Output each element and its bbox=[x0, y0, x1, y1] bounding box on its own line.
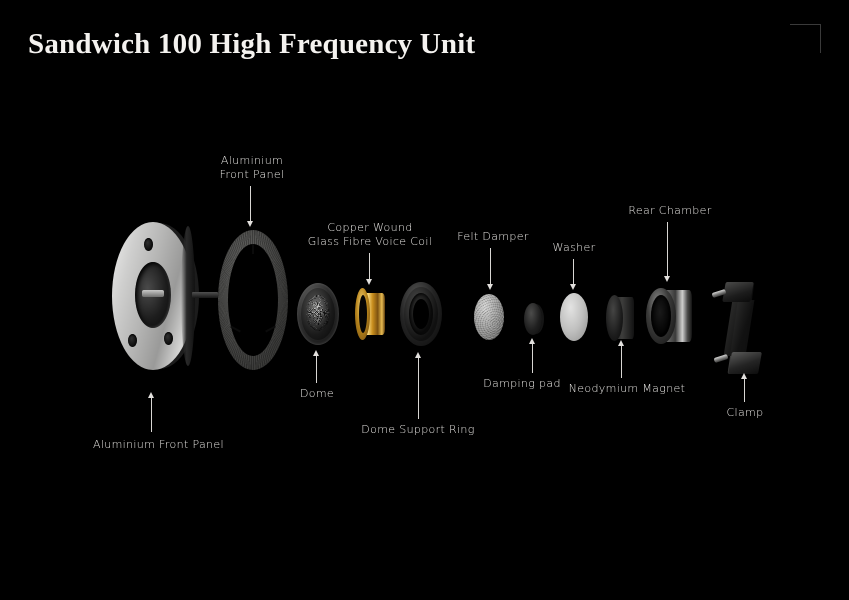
label-felt-damper: Felt Damper bbox=[457, 230, 528, 244]
leader-arrow-down bbox=[664, 276, 670, 282]
part-felt-damper bbox=[474, 294, 504, 340]
flange-bore bbox=[135, 262, 171, 328]
leader-line bbox=[667, 222, 668, 278]
diagram-canvas: Sandwich 100 High Frequency Unit bbox=[0, 0, 849, 600]
part-dome bbox=[297, 283, 339, 345]
label-washer: Washer bbox=[552, 241, 595, 255]
flange-hole bbox=[164, 332, 173, 345]
magnet-face bbox=[606, 295, 623, 341]
label-rear-chamber: Rear Chamber bbox=[628, 204, 711, 218]
corner-bracket-icon bbox=[790, 24, 821, 53]
leader-line bbox=[316, 355, 317, 383]
leader-arrow-up bbox=[741, 373, 747, 379]
label-front-panel-gasket: Aluminium Front Panel bbox=[220, 154, 285, 182]
leader-arrow-up bbox=[313, 350, 319, 356]
leader-arrow-up bbox=[148, 392, 154, 398]
clamp-top-block bbox=[722, 282, 754, 302]
clamp-bolt bbox=[714, 354, 729, 363]
page-title: Sandwich 100 High Frequency Unit bbox=[28, 28, 475, 61]
leader-arrow-up bbox=[415, 352, 421, 358]
leader-arrow-down bbox=[366, 279, 372, 285]
label-neodymium-magnet: Neodymium Magnet bbox=[569, 382, 686, 396]
part-damping-pad bbox=[524, 303, 542, 335]
leader-arrow-down bbox=[487, 284, 493, 290]
support-aperture bbox=[413, 299, 429, 329]
coil-front-face bbox=[355, 288, 370, 340]
leader-line bbox=[532, 343, 533, 373]
flange-hole bbox=[128, 334, 137, 347]
part-washer bbox=[560, 293, 588, 341]
leader-arrow-up bbox=[529, 338, 535, 344]
leader-line bbox=[250, 186, 251, 224]
leader-line bbox=[418, 357, 419, 419]
chamber-face bbox=[646, 288, 676, 344]
leader-arrow-up bbox=[618, 340, 624, 346]
clamp-bottom-block bbox=[728, 352, 762, 374]
pad-disc bbox=[524, 303, 542, 335]
part-aluminium-front-panel bbox=[112, 222, 194, 370]
leader-line bbox=[369, 253, 370, 281]
leader-line bbox=[573, 259, 574, 287]
dome-cap bbox=[306, 295, 330, 331]
leader-line bbox=[744, 378, 745, 402]
felt-disc bbox=[474, 294, 504, 340]
leader-arrow-down bbox=[247, 221, 253, 227]
part-voice-coil bbox=[355, 288, 385, 340]
part-neodymium-magnet bbox=[606, 295, 636, 341]
label-clamp: Clamp bbox=[727, 406, 764, 420]
leader-line bbox=[151, 398, 152, 432]
leader-line bbox=[490, 248, 491, 286]
label-aluminium-front-panel: Aluminium Front Panel bbox=[93, 438, 224, 452]
label-voice-coil: Copper Wound Glass Fibre Voice Coil bbox=[308, 221, 432, 249]
label-dome: Dome bbox=[300, 387, 334, 401]
part-rear-chamber bbox=[646, 288, 692, 344]
part-front-panel-gasket bbox=[218, 230, 288, 370]
part-dome-support-ring bbox=[400, 282, 442, 346]
leader-line bbox=[621, 345, 622, 378]
flange-terminal-tab bbox=[192, 292, 218, 298]
leader-arrow-down bbox=[570, 284, 576, 290]
label-dome-support-ring: Dome Support Ring bbox=[361, 423, 474, 437]
part-clamp bbox=[710, 282, 766, 374]
gasket-notch bbox=[252, 244, 254, 254]
label-damping-pad: Damping pad bbox=[483, 377, 561, 391]
clamp-web bbox=[724, 300, 755, 356]
flange-hole bbox=[144, 238, 153, 251]
washer-disc bbox=[560, 293, 588, 341]
